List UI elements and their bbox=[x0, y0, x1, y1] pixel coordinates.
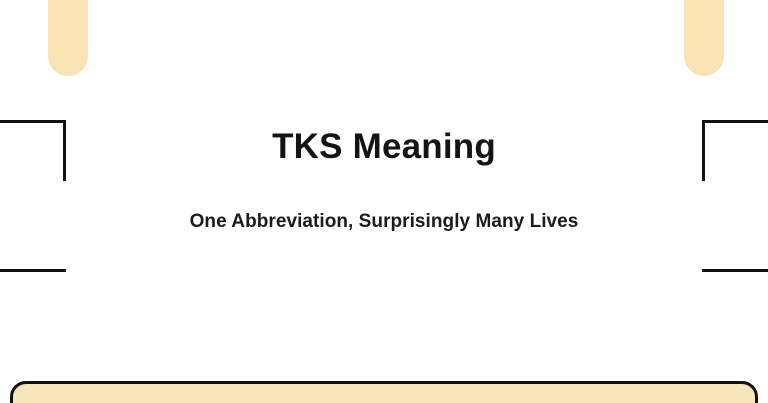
headline-block: TKS Meaning One Abbreviation, Surprising… bbox=[0, 126, 768, 235]
bracket-left-bottom-rule bbox=[0, 269, 66, 272]
decorative-bar-top-left bbox=[48, 0, 88, 76]
page-subtitle: One Abbreviation, Surprisingly Many Live… bbox=[0, 167, 768, 235]
page-title: TKS Meaning bbox=[0, 126, 768, 167]
bracket-right-top-rule bbox=[702, 120, 768, 123]
bracket-right-bottom-rule bbox=[702, 269, 768, 272]
callout-panel bbox=[10, 381, 758, 403]
bracket-left-top-rule bbox=[0, 120, 66, 123]
slide-canvas: TKS Meaning One Abbreviation, Surprising… bbox=[0, 0, 768, 403]
decorative-bar-top-right bbox=[684, 0, 724, 76]
